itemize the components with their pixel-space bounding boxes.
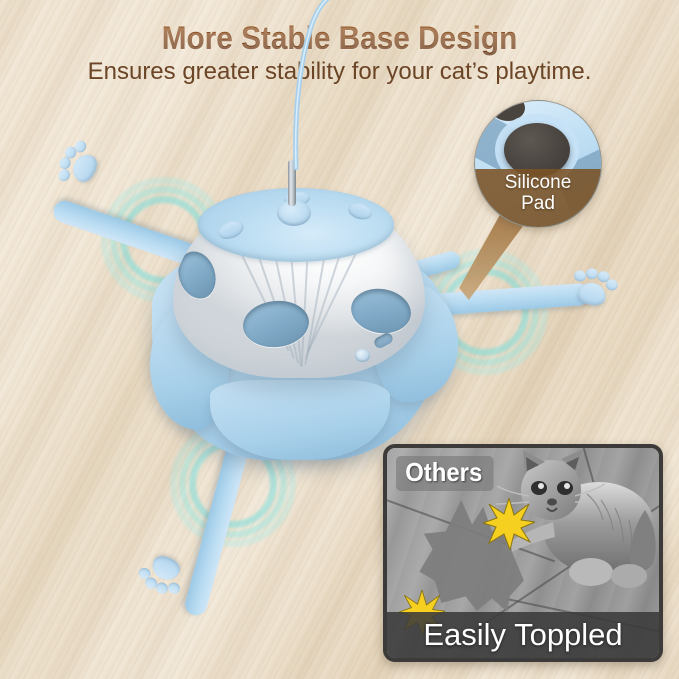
others-badge: Others bbox=[396, 456, 493, 491]
impact-burst-icon-top bbox=[483, 498, 535, 550]
paw-print-icon-left bbox=[53, 136, 110, 195]
toy-wand bbox=[250, 0, 370, 170]
power-button[interactable] bbox=[355, 349, 370, 362]
paw-print-icon-right bbox=[566, 265, 620, 315]
paw-print-icon-bottom bbox=[135, 544, 194, 600]
callout-label: Silicone Pad bbox=[475, 169, 601, 227]
callout-label-line1: Silicone bbox=[505, 172, 572, 193]
paw-toe-detail bbox=[491, 100, 525, 121]
product-feature-image: More Stable Base Design Ensures greater … bbox=[0, 0, 679, 679]
dome-hole-center bbox=[241, 298, 311, 351]
panel-caption: Easily Toppled bbox=[387, 612, 659, 658]
dome-hole-right bbox=[348, 285, 414, 338]
silicone-pad-callout: Silicone Pad bbox=[474, 100, 602, 228]
comparison-panel: Others Easily Toppled bbox=[383, 444, 663, 662]
callout-label-line2: Pad bbox=[521, 193, 555, 214]
